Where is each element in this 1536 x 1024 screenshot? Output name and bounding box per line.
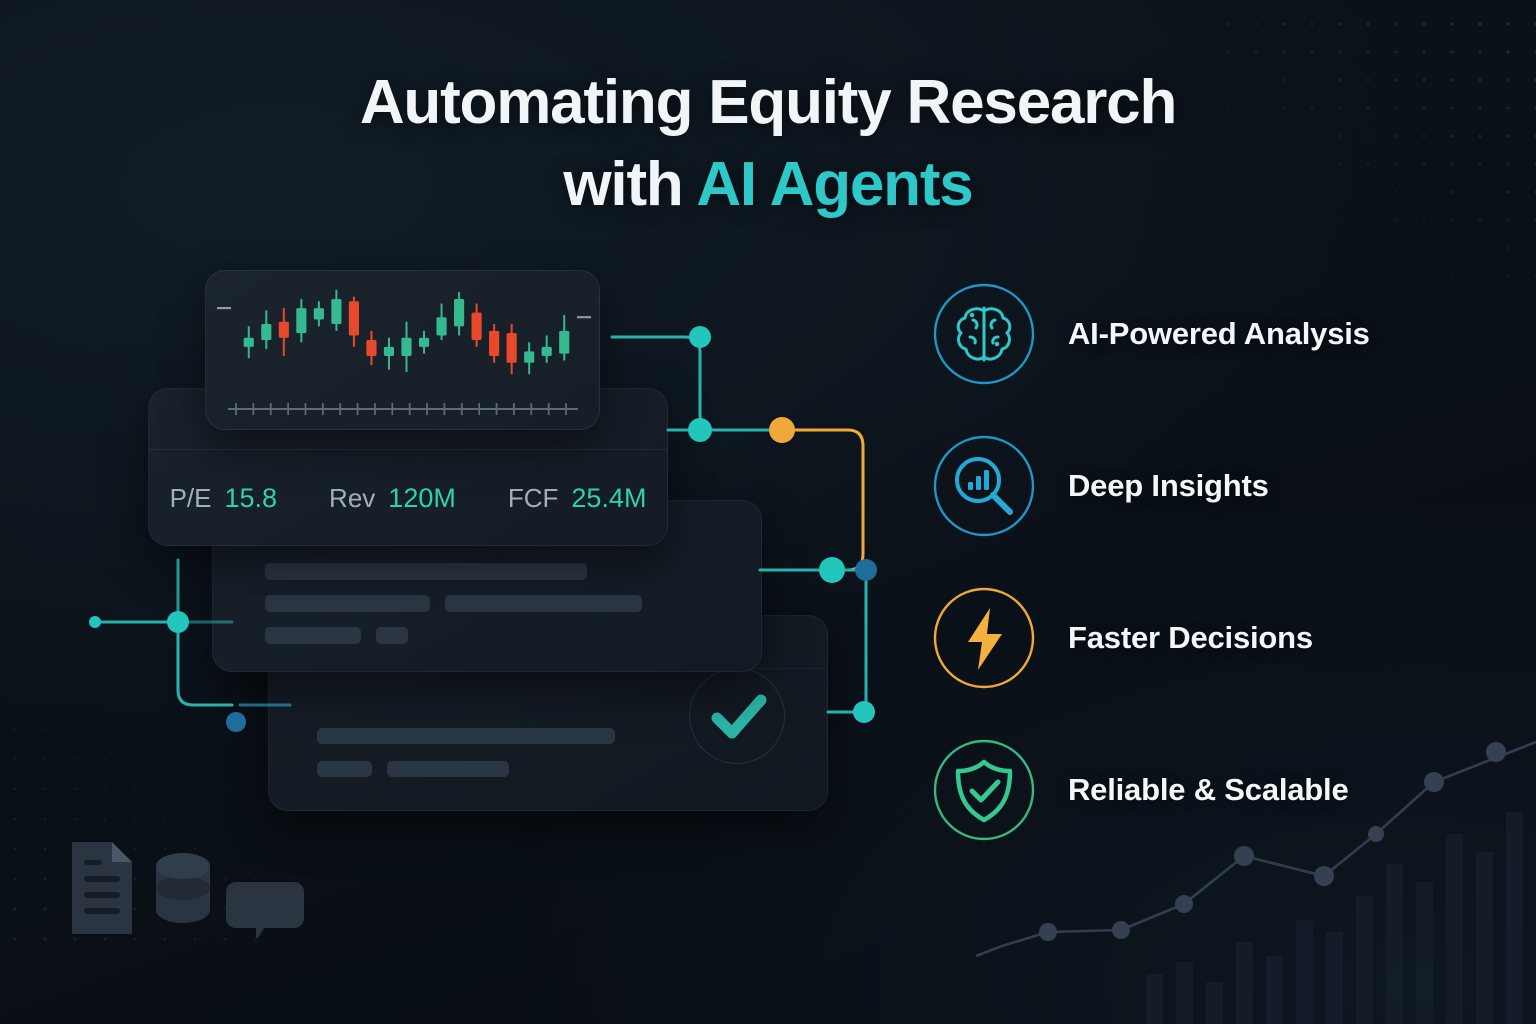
feature-label: Deep Insights — [1068, 468, 1269, 504]
feature-label: Reliable & Scalable — [1068, 772, 1349, 808]
feature-list: AI-Powered Analysis Deep Insights — [932, 282, 1370, 842]
node-left-main — [167, 611, 189, 633]
node-junction-a — [688, 418, 712, 442]
feature-reliable-scalable[interactable]: Reliable & Scalable — [932, 738, 1370, 842]
feature-label: AI-Powered Analysis — [1068, 316, 1370, 352]
connector-nodes — [89, 326, 877, 732]
node-left-lower — [226, 712, 246, 732]
node-bottom — [853, 701, 875, 723]
node-chart-output — [689, 326, 711, 348]
feature-label: Faster Decisions — [1068, 620, 1313, 656]
node-junction-b — [819, 557, 845, 583]
feature-deep-insights[interactable]: Deep Insights — [932, 434, 1370, 538]
feature-ai-powered-analysis[interactable]: AI-Powered Analysis — [932, 282, 1370, 386]
brain-icon — [932, 282, 1036, 386]
shield-check-icon — [932, 738, 1036, 842]
infographic-canvas: Automating Equity Research with AI Agent… — [0, 0, 1536, 1024]
magnifier-chart-icon — [932, 434, 1036, 538]
feature-faster-decisions[interactable]: Faster Decisions — [932, 586, 1370, 690]
node-amber — [769, 417, 795, 443]
node-left-tip — [89, 616, 101, 628]
node-blue — [855, 559, 877, 581]
lightning-bolt-icon — [932, 586, 1036, 690]
